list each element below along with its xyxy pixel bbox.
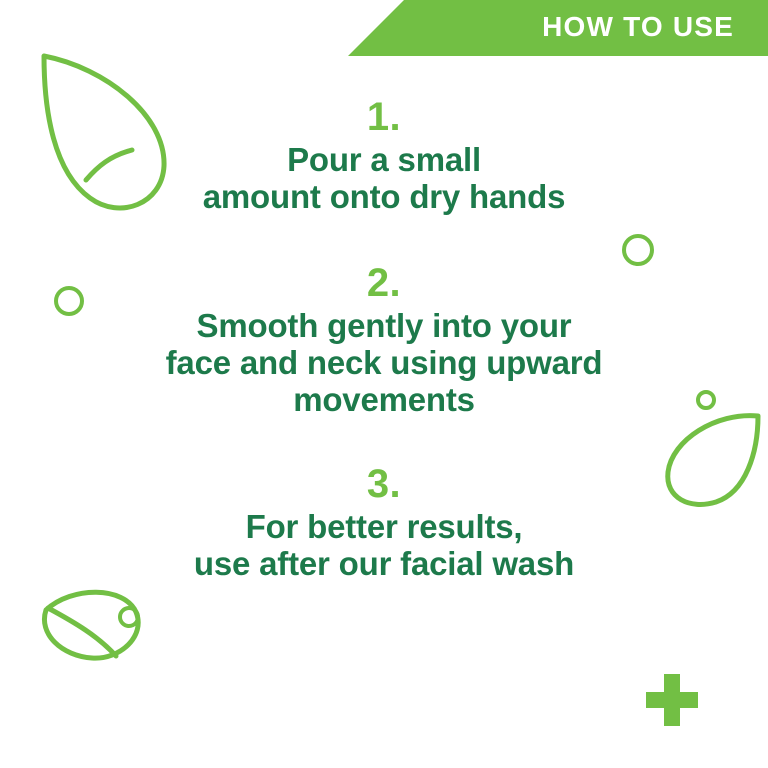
circle-outline-tiny-bottom-left <box>116 604 142 630</box>
step-item-1: 1. Pour a small amount onto dry hands <box>0 96 768 216</box>
step-3-text: For better results, use after our facial… <box>0 509 768 583</box>
step-3-line-1: For better results, <box>70 509 698 546</box>
header-banner: HOW TO USE <box>348 0 768 56</box>
step-1-number: 1. <box>0 96 768 138</box>
steps-list: 1. Pour a small amount onto dry hands 2.… <box>0 96 768 605</box>
step-item-3: 3. For better results, use after our fac… <box>0 463 768 583</box>
step-3-line-2: use after our facial wash <box>70 546 698 583</box>
step-1-text: Pour a small amount onto dry hands <box>0 142 768 216</box>
poster-canvas: HOW TO USE <box>0 0 768 768</box>
plus-cross-bottom-right <box>640 668 704 732</box>
step-item-2: 2. Smooth gently into your face and neck… <box>0 262 768 419</box>
page-title: HOW TO USE <box>542 13 734 43</box>
step-2-number: 2. <box>0 262 768 304</box>
step-3-number: 3. <box>0 463 768 505</box>
step-2-text: Smooth gently into your face and neck us… <box>0 308 768 419</box>
step-2-line-1: Smooth gently into your <box>70 308 698 345</box>
step-2-line-2: face and neck using upward <box>70 345 698 382</box>
step-1-line-1: Pour a small <box>70 142 698 179</box>
step-2-line-3: movements <box>70 382 698 419</box>
step-1-line-2: amount onto dry hands <box>70 179 698 216</box>
